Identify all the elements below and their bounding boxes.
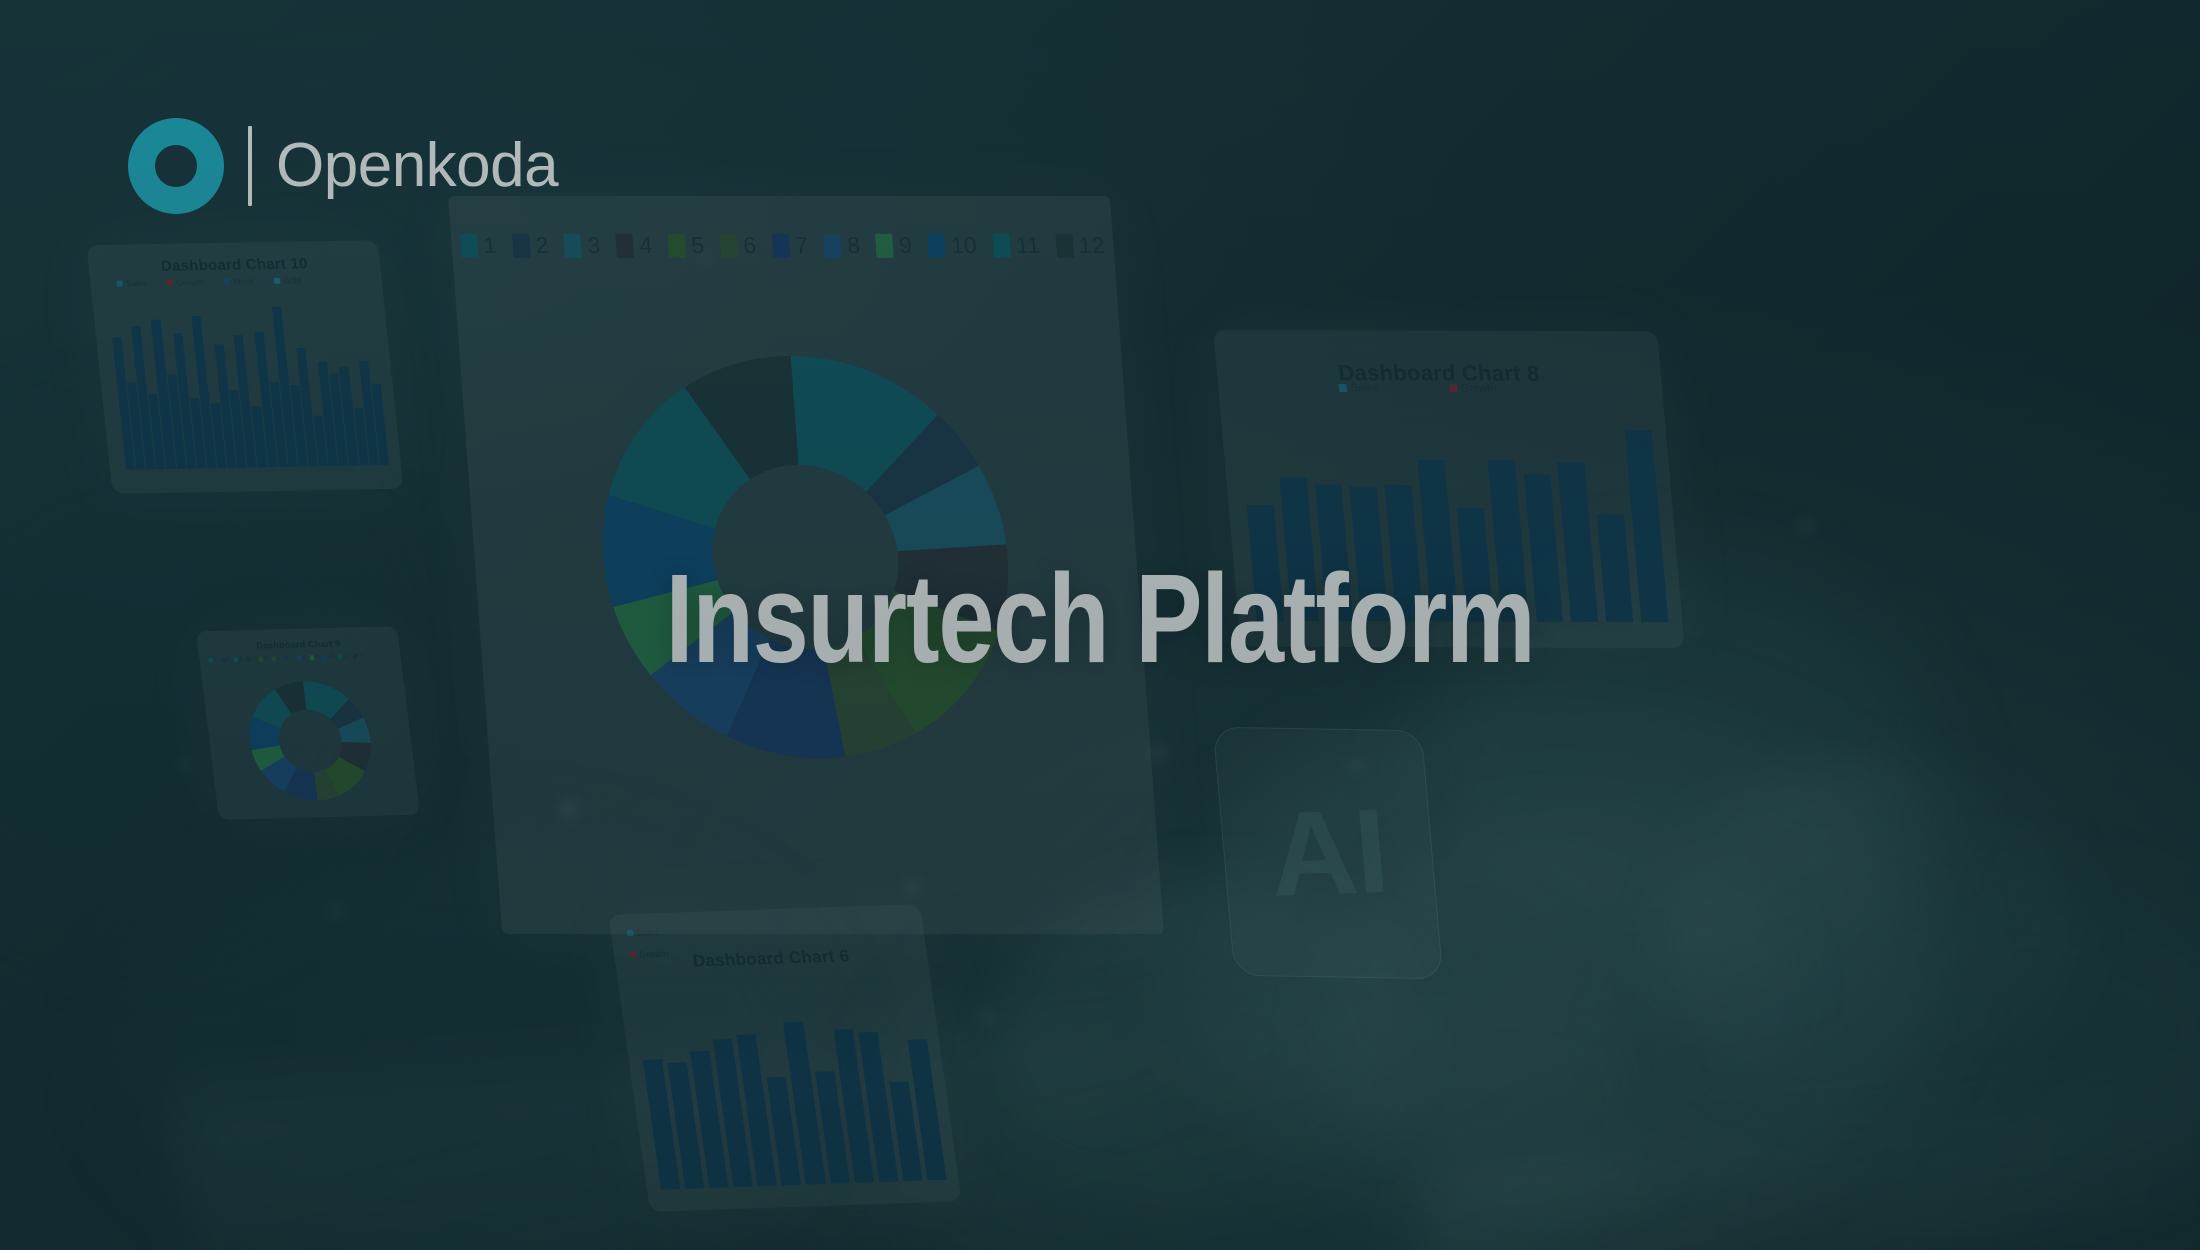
legend-item[interactable]: 11 [992, 232, 1041, 259]
legend-item[interactable]: 6 [719, 232, 757, 259]
legend-item[interactable]: Stock [223, 276, 254, 286]
chart-legend: SalesGrowthStockGold [116, 275, 302, 288]
legend-swatch-icon [615, 233, 634, 257]
legend-item[interactable]: Growth [629, 949, 669, 960]
legend-label: 1 [214, 657, 218, 663]
legend-label: Growth [176, 277, 205, 287]
dashboard-chart-6-panel: Dashboard Chart 6 SalesGrowth [608, 904, 961, 1212]
legend-swatch-icon [667, 233, 686, 257]
chart-legend: 123456789101112 [451, 232, 1115, 259]
legend-swatch-icon [719, 233, 738, 257]
dashboard-chart-10-panel: Dashboard Chart 10 SalesGrowthStockGold [86, 240, 403, 494]
legend-label: Sales [125, 278, 147, 288]
legend-swatch-icon [1055, 233, 1074, 257]
legend-swatch-icon [564, 233, 583, 257]
chart-legend: SalesGrowth [1338, 382, 1497, 395]
legend-item[interactable]: Sales [116, 278, 147, 288]
legend-swatch-icon [875, 233, 894, 257]
legend-swatch-icon [992, 233, 1011, 257]
legend-item[interactable]: Sales [1338, 382, 1379, 394]
page-title: Insurtech Platform [220, 556, 1980, 682]
legend-item[interactable]: 2 [511, 232, 549, 259]
legend-swatch-icon [167, 280, 174, 286]
legend-item[interactable]: 3 [563, 232, 601, 259]
bokeh-dot [1350, 760, 1362, 772]
legend-swatch-icon [274, 278, 281, 284]
legend-swatch-icon [223, 279, 230, 285]
legend-item[interactable]: 4 [615, 232, 653, 259]
bokeh-dot [700, 250, 710, 260]
legend-label: 8 [846, 232, 861, 259]
legend-label: Growth [638, 949, 669, 960]
legend-label: Sales [1350, 382, 1379, 394]
legend-swatch-icon [460, 233, 479, 257]
legend-label: 9 [898, 232, 913, 259]
legend-item[interactable]: Growth [167, 277, 205, 288]
legend-swatch-icon [771, 233, 790, 257]
legend-swatch-icon [512, 233, 531, 257]
legend-item[interactable]: 1 [460, 232, 498, 259]
bokeh-dot [1520, 640, 1534, 654]
bokeh-dot [980, 1010, 994, 1024]
legend-item[interactable]: 8 [823, 232, 861, 259]
bar-series [108, 296, 389, 470]
logo-divider [248, 126, 252, 206]
donut-chart [237, 675, 383, 807]
legend-label: 12 [1078, 232, 1106, 259]
openkoda-ring-icon [128, 118, 224, 214]
ai-label: AI [1265, 791, 1392, 915]
legend-swatch-icon [1448, 384, 1457, 392]
background-hand-blur [1660, 760, 2080, 1120]
panel-title: Dashboard Chart 10 [88, 254, 381, 276]
legend-label: 1 [483, 232, 498, 259]
legend-label: Gold [283, 275, 302, 285]
legend-item[interactable]: 1 [208, 657, 217, 663]
legend-label: 10 [950, 232, 978, 259]
bar-series [636, 1000, 947, 1190]
legend-swatch-icon [823, 233, 842, 257]
legend-item[interactable]: 12 [1055, 232, 1106, 259]
hero-banner: Dashboard Chart 10 SalesGrowthStockGold … [0, 0, 2200, 1250]
bokeh-dot [1800, 520, 1812, 532]
legend-label: 3 [586, 232, 601, 259]
legend-swatch-icon [1338, 384, 1347, 392]
legend-item[interactable]: Growth [1448, 382, 1497, 394]
legend-label: 11 [1015, 232, 1041, 259]
bokeh-dot [560, 800, 578, 818]
brand-name: Openkoda [276, 135, 558, 197]
legend-label: 7 [794, 232, 809, 259]
legend-label: 6 [742, 232, 757, 259]
openkoda-logo[interactable]: Openkoda [128, 118, 558, 214]
ai-glass-tile[interactable]: AI [1213, 727, 1444, 980]
legend-label: Stock [232, 276, 254, 286]
legend-item[interactable]: Gold [274, 275, 302, 285]
legend-item[interactable]: 10 [927, 232, 978, 259]
legend-label: Growth [1460, 382, 1497, 394]
legend-swatch-icon [927, 233, 946, 257]
bokeh-dot [330, 905, 342, 917]
legend-label: 4 [638, 232, 653, 259]
legend-swatch-icon [116, 280, 123, 286]
bokeh-dot [1150, 745, 1166, 761]
legend-item[interactable]: 7 [771, 232, 809, 259]
bokeh-dot [905, 880, 919, 894]
legend-label: 2 [535, 232, 550, 259]
legend-swatch-icon [208, 657, 213, 662]
legend-swatch-icon [630, 952, 637, 958]
legend-item[interactable]: 9 [875, 232, 913, 259]
bokeh-dot [180, 760, 190, 770]
